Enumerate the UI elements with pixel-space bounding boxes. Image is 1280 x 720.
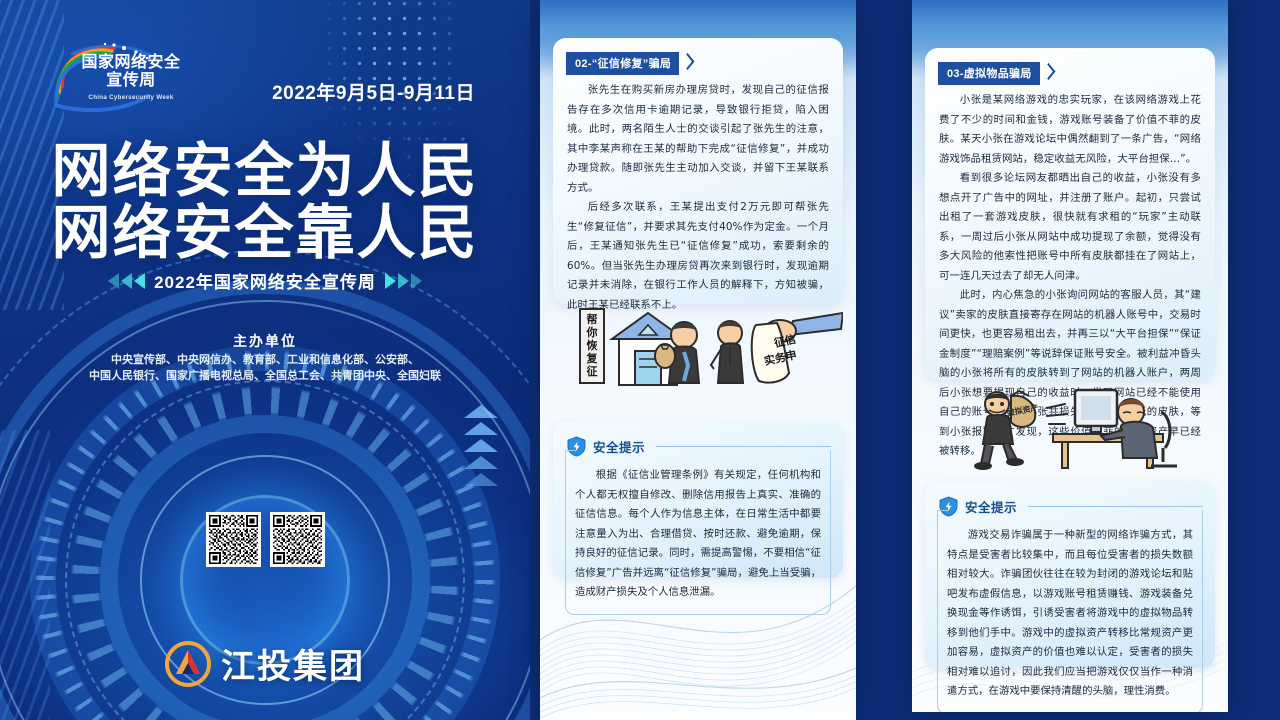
safety-tip-body: 游戏交易诈骗属于一种新型的网络诈骗方式，其特点是受害者比较集中，而且每位受害者的… [947,526,1193,702]
virtual-asset-theft-illustration: 虚拟资产 [925,382,1215,472]
logo-chinese-name: 国家网络安全 宣传周 [78,54,184,90]
story-paragraph-1: 小张是某网络游戏的忠实玩家，在该网络游戏上花费了不少的时间和金钱，游戏账号装备了… [939,91,1201,169]
cybersecurity-week-poster: 国家网络安全 宣传周 China Cybersecurity Week 2022… [0,0,530,720]
story-paragraph-1: 张先生在购买新房办理房贷时，发现自己的征信报告存在多次信用卡逾期记录，导致银行拒… [567,81,829,198]
safety-tip-body: 根据《征信业管理条例》有关规定，任何机构和个人都无权擅自修改、删除信用报告上真实… [575,466,821,603]
story-card: 02-“征信修复”骗局 张先生在购买新房办理房贷时，发现自己的征信报告存在多次信… [553,38,843,304]
host-line-1: 中央宣传部、中央网信办、教育部、工业和信息化部、公安部、 [0,352,530,368]
safety-tip-card: 安全提示 根据《征信业管理条例》有关规定，任何机构和个人都无权擅自修改、删除信用… [553,422,843,578]
china-cybersecurity-week-logo: 国家网络安全 宣传周 China Cybersecurity Week [52,40,184,112]
headline-line-1: 网络安全为人民 [0,140,530,202]
headline-line-2: 网络安全靠人民 [0,202,530,264]
right-article-panel: 03-虚拟物品骗局 小张是某网络游戏的忠实玩家，在该网络游戏上花费了不少的时间和… [912,0,1228,712]
safety-tip-paragraph: 游戏交易诈骗属于一种新型的网络诈骗方式，其特点是受害者比较集中，而且每位受害者的… [947,526,1193,702]
host-line-2: 中国人民银行、国家广播电视总局、全国总工会、共青团中央、全国妇联 [0,368,530,384]
safety-tip-body-frame: 游戏交易诈骗属于一种新型的网络诈骗方式，其特点是受害者比较集中，而且每位受害者的… [937,510,1203,712]
qr-code-left[interactable] [206,512,261,567]
credit-repair-scam-illustration: 帮 你 恢 复 征 [553,295,843,400]
logo-line-2: 宣传周 [78,72,184,90]
illustration-graphic: 帮 你 恢 复 征 [553,295,843,400]
jiangtou-group-logo-icon [165,641,211,687]
svg-text:复: 复 [586,351,599,365]
poster-subtitle-bar: 2022年国家网络安全宣传周 [0,268,530,293]
poster-headline: 网络安全为人民 网络安全靠人民 [0,140,530,264]
qr-code-row [0,512,530,567]
qr-code-left-image [209,515,258,564]
chevron-right-icon [1043,65,1054,83]
logo-line-1: 国家网络安全 [78,54,184,72]
illustration-graphic: 虚拟资产 [925,382,1215,472]
logo-english-name: China Cybersecurity Week [78,94,184,101]
svg-text:恢: 恢 [587,338,598,352]
host-label: 主办单位 [0,331,530,351]
poster-subtitle: 2022年国家网络安全宣传周 [154,268,376,293]
svg-text:你: 你 [586,325,598,339]
host-organizations: 中央宣传部、中央网信办、教育部、工业和信息化部、公安部、 中国人民银行、国家广播… [0,352,530,384]
middle-article-panel: 02-“征信修复”骗局 张先生在购买新房办理房贷时，发现自己的征信报告存在多次信… [540,0,856,720]
section-badge: 02-“征信修复”骗局 [566,52,693,75]
right-arrows-icon [385,273,422,289]
left-arrows-icon [108,273,145,289]
section-badge-label: 02-“征信修复”骗局 [566,52,679,75]
qr-code-right[interactable] [270,512,325,567]
safety-tip-paragraph: 根据《征信业管理条例》有关规定，任何机构和个人都无权擅自修改、删除信用报告上真实… [575,466,821,603]
screenshot-root: 国家网络安全 宣传周 China Cybersecurity Week 2022… [0,0,1280,720]
svg-text:征: 征 [587,364,598,378]
section-badge: 03-虚拟物品骗局 [938,62,1054,85]
qr-code-right-image [273,515,322,564]
story-card: 03-虚拟物品骗局 小张是某网络游戏的忠实玩家，在该网络游戏上花费了不少的时间和… [925,48,1215,380]
safety-tip-rule [656,446,831,447]
chevron-right-icon [682,55,693,73]
company-name: 江投集团 [221,639,365,688]
safety-tip-card: 安全提示 游戏交易诈骗属于一种新型的网络诈骗方式，其特点是受害者比较集中，而且每… [925,482,1215,668]
event-date: 2022年9月5日-9月11日 [272,78,475,105]
safety-tip-body-frame: 根据《征信业管理条例》有关规定，任何机构和个人都无权擅自修改、删除信用报告上真实… [565,450,831,615]
company-brand: 江投集团 [0,639,530,688]
svg-text:帮: 帮 [587,312,598,326]
story-paragraph-2: 看到很多论坛网友都晒出自己的收益，小张没有多想点开了广告中的网址，并注册了账户。… [939,169,1201,286]
section-badge-label: 03-虚拟物品骗局 [938,62,1040,85]
story-body: 张先生在购买新房办理房贷时，发现自己的征信报告存在多次信用卡逾期记录，导致银行拒… [553,75,843,329]
safety-tip-rule [1028,506,1203,507]
